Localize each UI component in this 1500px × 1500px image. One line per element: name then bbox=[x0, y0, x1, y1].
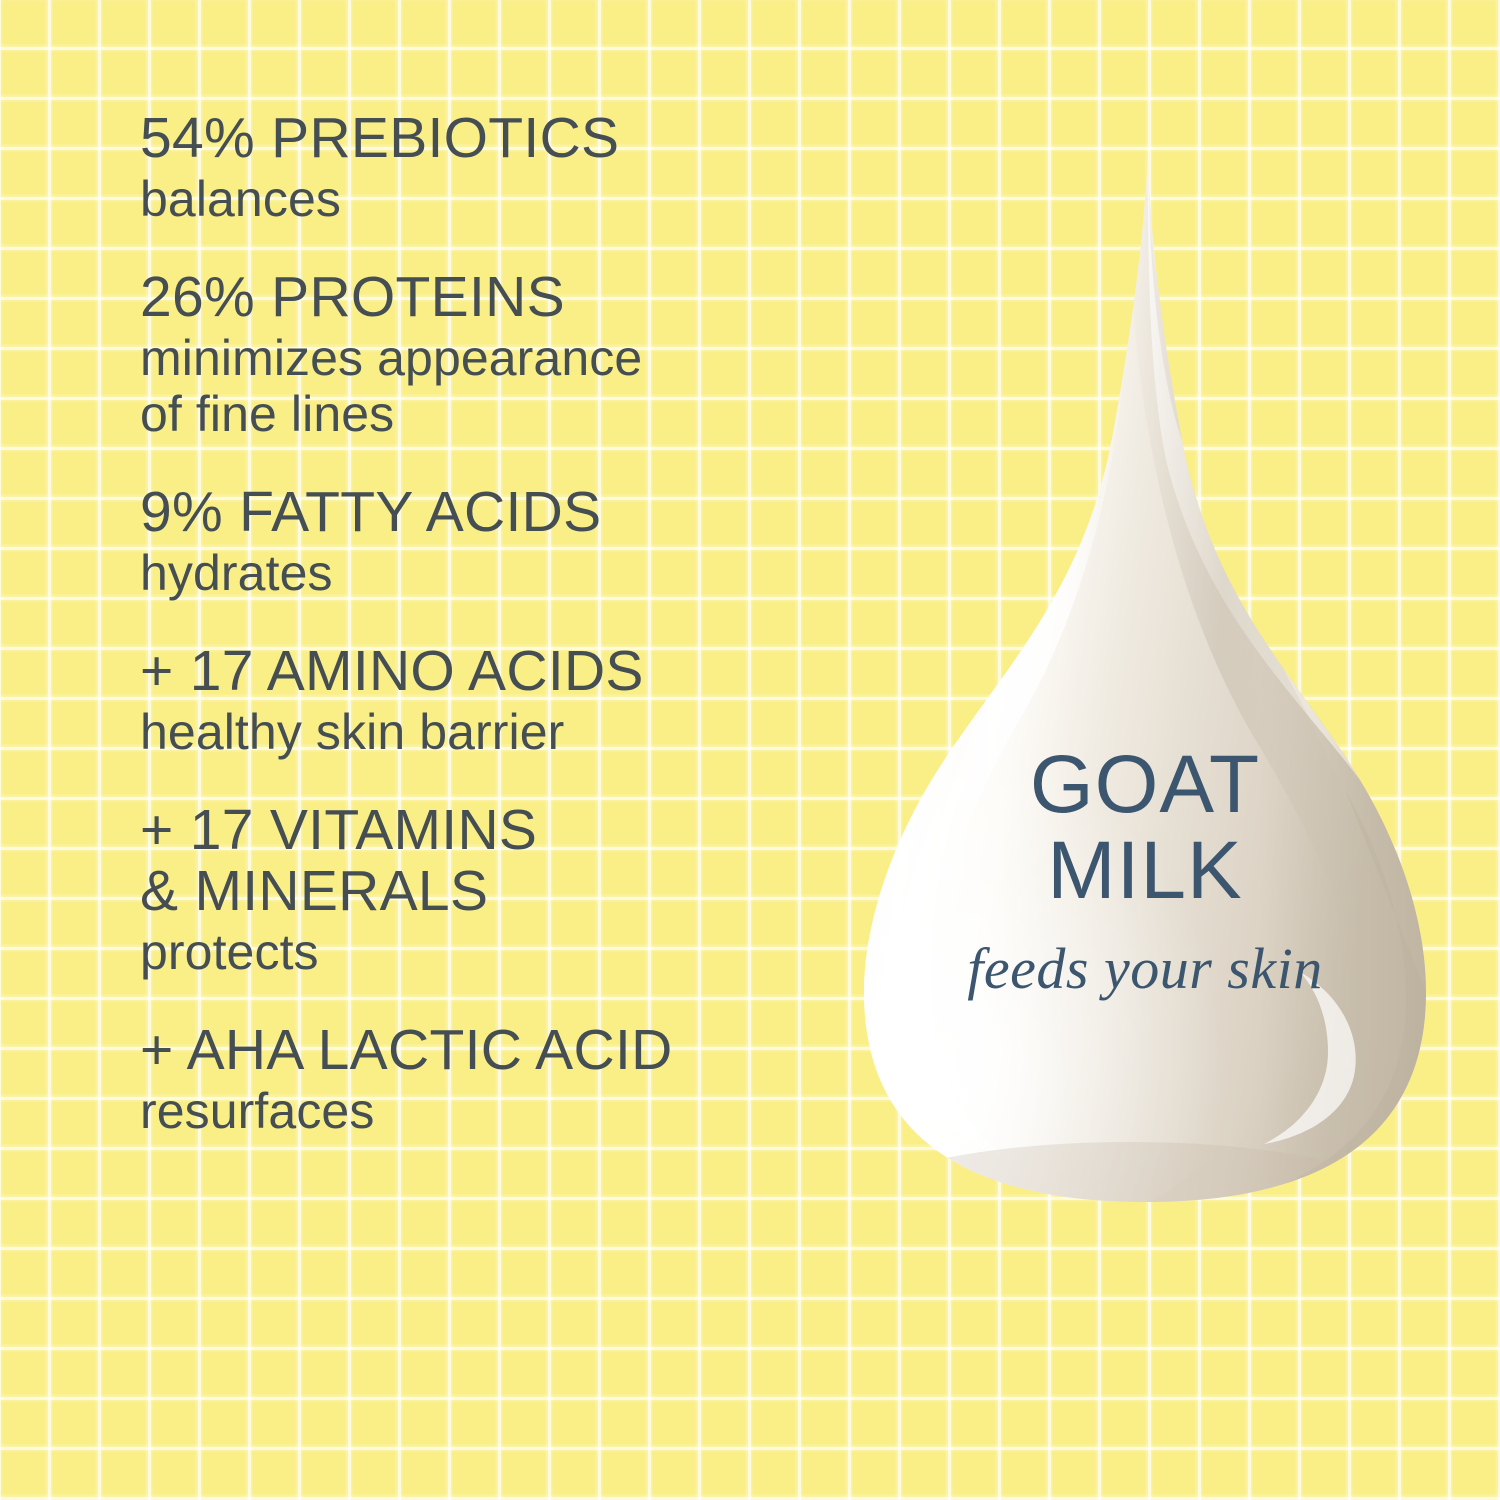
ingredient-item: + AHA LACTIC ACID resurfaces bbox=[140, 1020, 840, 1139]
ingredient-headline: 54% PREBIOTICS bbox=[140, 108, 840, 169]
ingredient-headline: 9% FATTY ACIDS bbox=[140, 482, 840, 543]
droplet-icon bbox=[830, 140, 1460, 1215]
ingredient-item: 26% PROTEINS minimizes appearance of fin… bbox=[140, 267, 840, 442]
ingredient-item: + 17 VITAMINS & MINERALS protects bbox=[140, 800, 840, 980]
ingredient-headline: 26% PROTEINS bbox=[140, 267, 840, 328]
ingredient-benefit: protects bbox=[140, 924, 840, 980]
ingredient-list: 54% PREBIOTICS balances 26% PROTEINS min… bbox=[140, 108, 840, 1139]
ingredient-item: 54% PREBIOTICS balances bbox=[140, 108, 840, 227]
droplet-body bbox=[830, 140, 1460, 1215]
ingredient-headline: + 17 VITAMINS & MINERALS bbox=[140, 800, 840, 922]
poster-canvas: 54% PREBIOTICS balances 26% PROTEINS min… bbox=[0, 0, 1500, 1500]
ingredient-benefit: hydrates bbox=[140, 545, 840, 601]
ingredient-item: 9% FATTY ACIDS hydrates bbox=[140, 482, 840, 601]
ingredient-headline: + AHA LACTIC ACID bbox=[140, 1020, 840, 1081]
ingredient-benefit: healthy skin barrier bbox=[140, 704, 840, 760]
milk-droplet-graphic: GOAT MILK feeds your skin bbox=[830, 140, 1460, 1215]
ingredient-headline: + 17 AMINO ACIDS bbox=[140, 641, 840, 702]
ingredient-benefit: resurfaces bbox=[140, 1083, 840, 1139]
ingredient-item: + 17 AMINO ACIDS healthy skin barrier bbox=[140, 641, 840, 760]
ingredient-benefit: minimizes appearance of fine lines bbox=[140, 330, 840, 442]
ingredient-benefit: balances bbox=[140, 171, 840, 227]
